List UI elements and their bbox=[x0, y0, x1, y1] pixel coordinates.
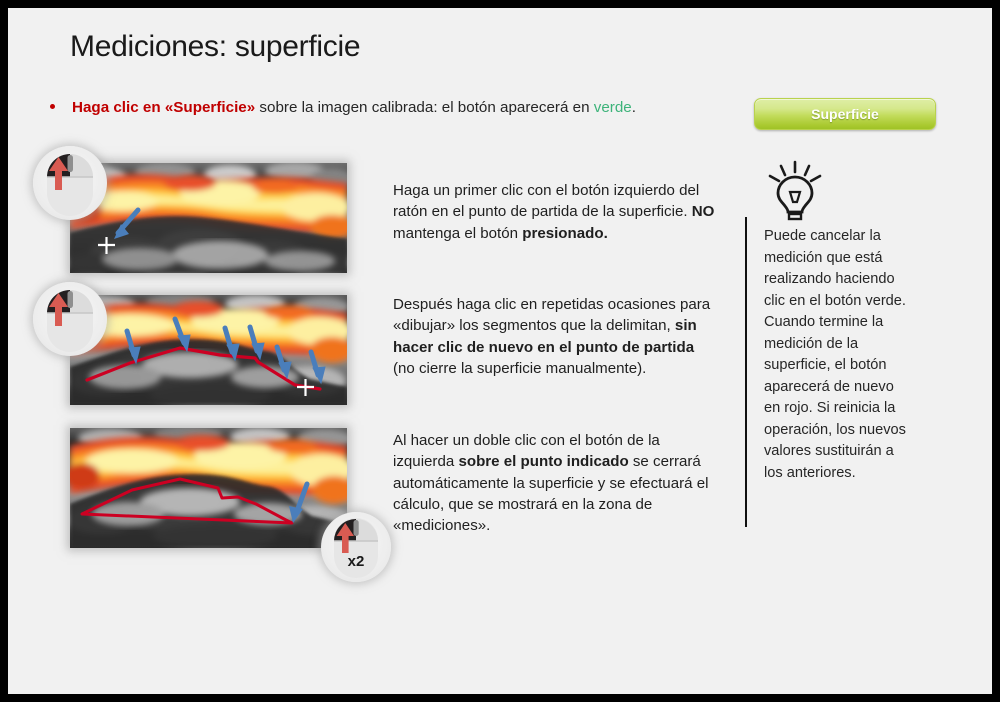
run: (no cierre la superficie manualmente). bbox=[393, 360, 646, 377]
bullet-normal-1: sobre la imagen calibrada: el botón apar… bbox=[255, 99, 594, 116]
step-3-instruction-text: Al hacer un doble clic con el botón de l… bbox=[393, 430, 719, 536]
step-1-instruction-text: Haga un primer clic con el botón izquier… bbox=[393, 180, 719, 244]
bullet-green-word: verde bbox=[594, 99, 632, 116]
run: mantenga el botón bbox=[393, 225, 522, 242]
slide-canvas: Mediciones: superficie Haga clic en «Sup… bbox=[8, 8, 992, 694]
step-2-ultrasound-image bbox=[70, 295, 347, 405]
bullet-emphasis: Haga clic en «Superficie» bbox=[72, 99, 255, 116]
double-click-label: x2 bbox=[348, 553, 365, 570]
run: Haga un primer clic con el botón izquier… bbox=[393, 182, 699, 220]
vertical-divider bbox=[745, 217, 747, 527]
bullet-marker-icon bbox=[50, 104, 55, 109]
tip-text: Puede cancelar la medición que está real… bbox=[764, 226, 912, 484]
bullet-line: Haga clic en «Superficie» sobre la image… bbox=[46, 98, 746, 118]
run-bold: presionado. bbox=[522, 225, 608, 242]
step-2-mouse-left-click-icon bbox=[33, 282, 107, 356]
bullet-text: Haga clic en «Superficie» sobre la image… bbox=[72, 98, 746, 118]
run-bold: NO bbox=[692, 203, 715, 220]
page-title: Mediciones: superficie bbox=[70, 30, 360, 64]
step-3-mouse-double-click-icon: x2 bbox=[321, 512, 391, 582]
step-1-mouse-left-click-icon bbox=[33, 146, 107, 220]
lightbulb-icon bbox=[766, 160, 824, 222]
step-3-ultrasound-image bbox=[70, 428, 347, 548]
step-2-instruction-text: Después haga clic en repetidas ocasiones… bbox=[393, 294, 719, 379]
run-bold: sobre el punto indicado bbox=[458, 453, 628, 470]
superficie-button[interactable]: Superficie bbox=[754, 98, 936, 130]
run: Después haga clic en repetidas ocasiones… bbox=[393, 296, 710, 334]
bullet-normal-2: . bbox=[632, 99, 636, 116]
step-1-ultrasound-image bbox=[70, 163, 347, 273]
